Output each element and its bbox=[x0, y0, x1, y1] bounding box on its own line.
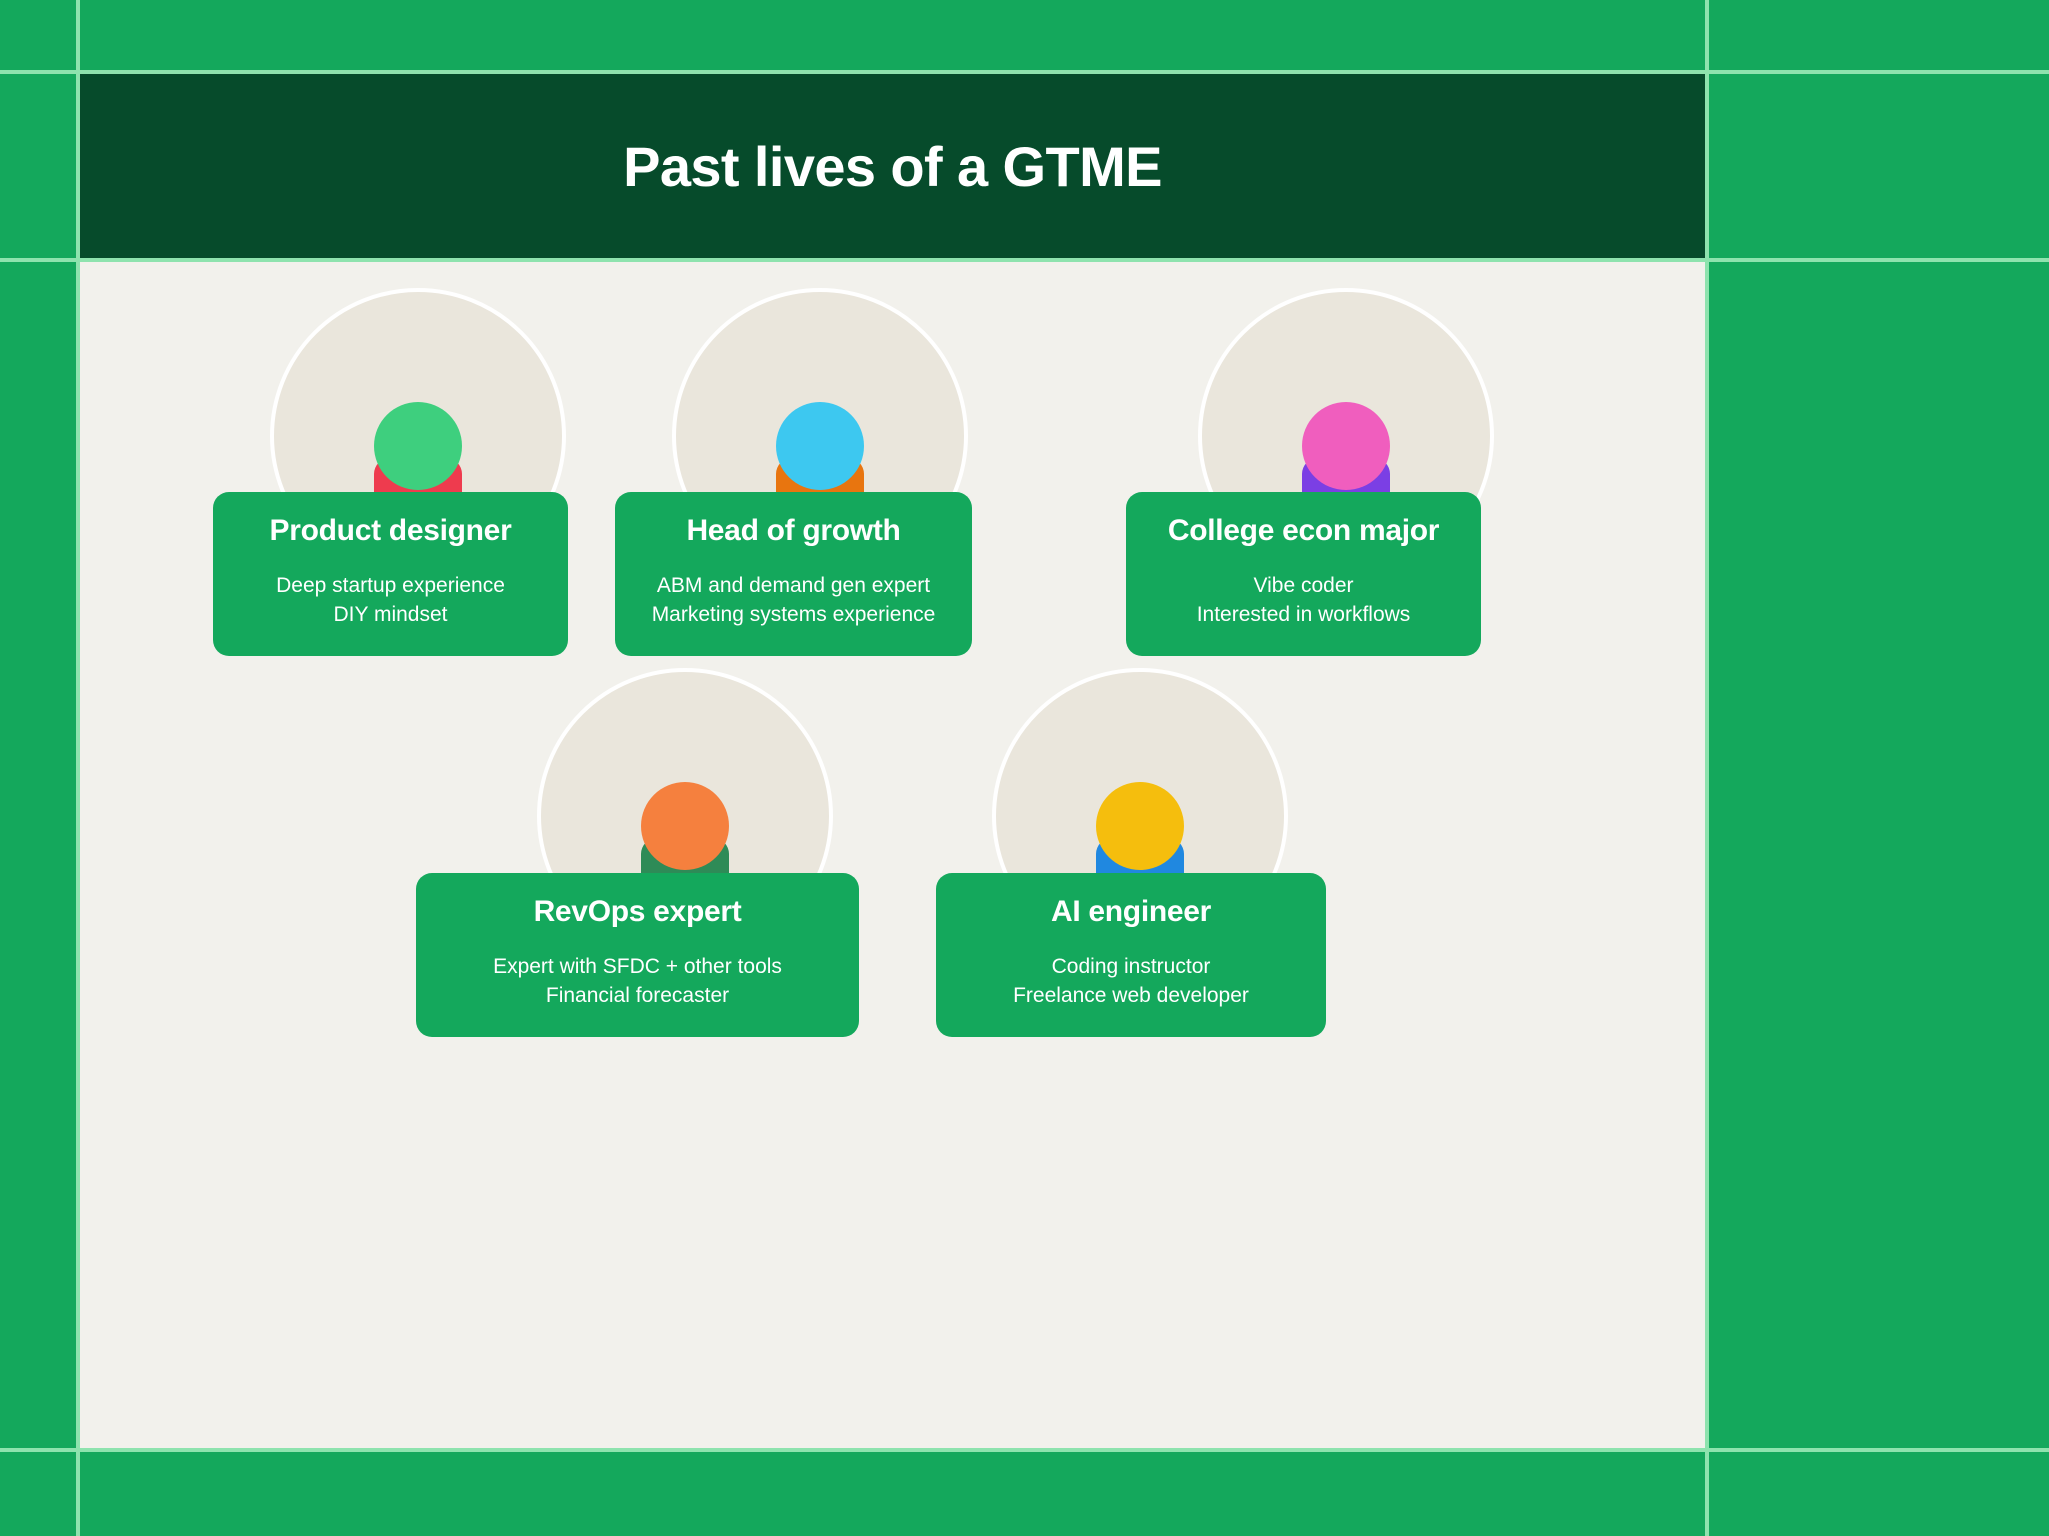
persona-line: Deep startup experience bbox=[239, 572, 542, 601]
content-canvas: Product designer Deep startup experience… bbox=[80, 262, 1705, 1448]
title-band: Past lives of a GTME bbox=[80, 74, 1705, 258]
persona-card-1[interactable]: Head of growth ABM and demand gen expert… bbox=[615, 492, 972, 656]
persona-line: Coding instructor bbox=[962, 953, 1300, 982]
page-title: Past lives of a GTME bbox=[623, 134, 1162, 199]
persona-card-2[interactable]: College econ major Vibe coder Interested… bbox=[1126, 492, 1481, 656]
persona-title: AI engineer bbox=[962, 895, 1300, 929]
persona-title: College econ major bbox=[1152, 514, 1455, 548]
frame-rule-bottom bbox=[0, 1448, 2049, 1452]
persona-title: RevOps expert bbox=[442, 895, 833, 929]
figure-head bbox=[641, 782, 729, 870]
persona-line: Vibe coder bbox=[1152, 572, 1455, 601]
persona-line: Freelance web developer bbox=[962, 982, 1300, 1011]
persona-title: Product designer bbox=[239, 514, 542, 548]
slide-root: Past lives of a GTME Product designer De… bbox=[0, 0, 2049, 1536]
persona-line: DIY mindset bbox=[239, 601, 542, 630]
figure-head bbox=[1096, 782, 1184, 870]
persona-line: ABM and demand gen expert bbox=[641, 572, 946, 601]
persona-card-3[interactable]: RevOps expert Expert with SFDC + other t… bbox=[416, 873, 859, 1037]
figure-head bbox=[1302, 402, 1390, 490]
persona-card-4[interactable]: AI engineer Coding instructor Freelance … bbox=[936, 873, 1326, 1037]
persona-line: Interested in workflows bbox=[1152, 601, 1455, 630]
figure-head bbox=[776, 402, 864, 490]
persona-line: Financial forecaster bbox=[442, 982, 833, 1011]
persona-line: Expert with SFDC + other tools bbox=[442, 953, 833, 982]
persona-title: Head of growth bbox=[641, 514, 946, 548]
persona-line: Marketing systems experience bbox=[641, 601, 946, 630]
frame-rule-right bbox=[1705, 0, 1709, 1536]
persona-card-0[interactable]: Product designer Deep startup experience… bbox=[213, 492, 568, 656]
figure-head bbox=[374, 402, 462, 490]
